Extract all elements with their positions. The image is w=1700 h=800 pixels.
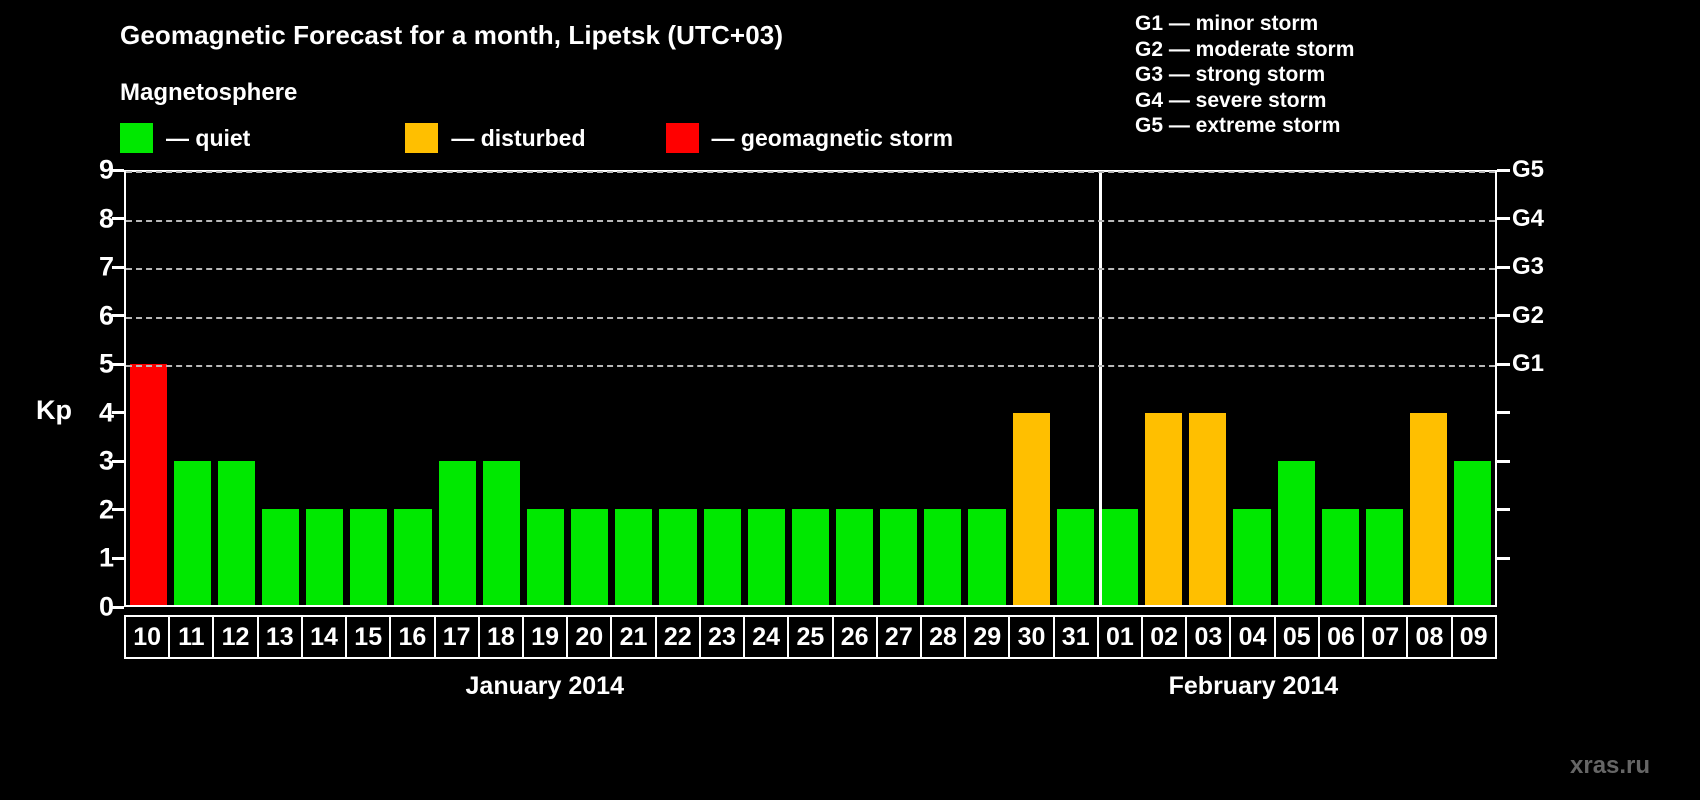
bar-cell-28 xyxy=(921,172,965,605)
storm-scale-list: G1 — minor stormG2 — moderate stormG3 — … xyxy=(1135,11,1354,139)
g-axis-label-G1: G1 xyxy=(1512,350,1544,378)
bar-day-04 xyxy=(1233,509,1270,605)
y-tick-label-8: 8 xyxy=(74,203,114,234)
bar-day-01 xyxy=(1101,509,1138,605)
day-label-31[interactable]: 31 xyxy=(1053,615,1099,659)
g-minor-tick-kp-3 xyxy=(1497,460,1510,463)
bar-cell-16 xyxy=(391,172,435,605)
day-label-21[interactable]: 21 xyxy=(610,615,656,659)
bar-cell-25 xyxy=(788,172,832,605)
storm-scale-row-g5: G5 — extreme storm xyxy=(1135,113,1354,139)
gridline-kp-9 xyxy=(126,171,1495,173)
day-label-11[interactable]: 11 xyxy=(168,615,214,659)
g-minor-tick-kp-4 xyxy=(1497,411,1510,414)
bar-cell-27 xyxy=(877,172,921,605)
bar-day-15 xyxy=(350,509,387,605)
legend-swatch-disturbed xyxy=(405,123,438,153)
bar-cell-30 xyxy=(1009,172,1053,605)
page-title: Geomagnetic Forecast for a month, Lipets… xyxy=(120,20,783,51)
day-axis: 1011121314151617181920212223242526272829… xyxy=(124,615,1497,659)
y-axis-label: Kp xyxy=(36,395,72,426)
day-label-25[interactable]: 25 xyxy=(787,615,833,659)
day-label-20[interactable]: 20 xyxy=(566,615,612,659)
g-minor-tick-kp-1 xyxy=(1497,557,1510,560)
bar-cell-29 xyxy=(965,172,1009,605)
day-label-16[interactable]: 16 xyxy=(389,615,435,659)
g-axis-label-G5: G5 xyxy=(1512,156,1544,184)
day-label-10[interactable]: 10 xyxy=(124,615,170,659)
y-tick-label-0: 0 xyxy=(74,592,114,623)
bar-cell-07 xyxy=(1362,172,1406,605)
day-label-05[interactable]: 05 xyxy=(1274,615,1320,659)
g-tick-G3 xyxy=(1497,266,1510,269)
day-label-28[interactable]: 28 xyxy=(920,615,966,659)
y-tick-label-9: 9 xyxy=(74,155,114,186)
bar-cell-19 xyxy=(523,172,567,605)
month-label: February 2014 xyxy=(1169,672,1339,701)
bar-day-13 xyxy=(262,509,299,605)
g-axis-label-G4: G4 xyxy=(1512,205,1544,233)
bar-day-16 xyxy=(394,509,431,605)
day-label-13[interactable]: 13 xyxy=(257,615,303,659)
day-label-30[interactable]: 30 xyxy=(1008,615,1054,659)
day-label-14[interactable]: 14 xyxy=(301,615,347,659)
g-axis-label-G3: G3 xyxy=(1512,253,1544,281)
bar-cell-03 xyxy=(1186,172,1230,605)
bar-day-11 xyxy=(174,461,211,605)
legend-swatch-geomagnetic-storm xyxy=(666,123,699,153)
bar-cell-06 xyxy=(1318,172,1362,605)
bar-day-25 xyxy=(792,509,829,605)
bar-day-05 xyxy=(1278,461,1315,605)
y-tick-label-3: 3 xyxy=(74,446,114,477)
bar-day-30 xyxy=(1013,413,1050,605)
bar-cell-26 xyxy=(833,172,877,605)
bar-day-02 xyxy=(1145,413,1182,605)
legend-swatch-quiet xyxy=(120,123,153,153)
month-divider xyxy=(1099,172,1102,605)
day-label-09[interactable]: 09 xyxy=(1451,615,1497,659)
bar-day-09 xyxy=(1454,461,1491,605)
bar-cell-21 xyxy=(612,172,656,605)
bar-cell-24 xyxy=(744,172,788,605)
bar-series xyxy=(126,172,1495,605)
gridline-kp-5 xyxy=(126,365,1495,367)
gridline-kp-7 xyxy=(126,268,1495,270)
day-label-15[interactable]: 15 xyxy=(345,615,391,659)
g-tick-G4 xyxy=(1497,217,1510,220)
bar-day-23 xyxy=(704,509,741,605)
legend-item-quiet: — quiet xyxy=(120,123,250,153)
day-label-24[interactable]: 24 xyxy=(743,615,789,659)
month-axis: January 2014February 2014 xyxy=(124,672,1497,712)
bar-cell-13 xyxy=(258,172,302,605)
legend-label-quiet: — quiet xyxy=(166,125,250,152)
y-tick-label-5: 5 xyxy=(74,349,114,380)
day-label-19[interactable]: 19 xyxy=(522,615,568,659)
bar-cell-31 xyxy=(1053,172,1097,605)
legend-label-disturbed: — disturbed xyxy=(451,125,585,152)
day-label-03[interactable]: 03 xyxy=(1185,615,1231,659)
bar-cell-23 xyxy=(700,172,744,605)
bar-cell-04 xyxy=(1230,172,1274,605)
bar-day-19 xyxy=(527,509,564,605)
bar-day-24 xyxy=(748,509,785,605)
g-tick-G1 xyxy=(1497,363,1510,366)
bar-day-22 xyxy=(659,509,696,605)
storm-scale-row-g3: G3 — strong storm xyxy=(1135,62,1354,88)
gridline-kp-8 xyxy=(126,220,1495,222)
g-tick-G5 xyxy=(1497,169,1510,172)
bar-day-26 xyxy=(836,509,873,605)
day-label-08[interactable]: 08 xyxy=(1406,615,1452,659)
bar-day-21 xyxy=(615,509,652,605)
bar-cell-18 xyxy=(479,172,523,605)
bar-day-06 xyxy=(1322,509,1359,605)
bar-cell-02 xyxy=(1142,172,1186,605)
day-label-29[interactable]: 29 xyxy=(964,615,1010,659)
bar-cell-05 xyxy=(1274,172,1318,605)
day-label-04[interactable]: 04 xyxy=(1229,615,1275,659)
section-label: Magnetosphere xyxy=(120,79,297,107)
bar-cell-01 xyxy=(1097,172,1141,605)
bar-cell-08 xyxy=(1407,172,1451,605)
legend: — quiet— disturbed— geomagnetic storm xyxy=(120,122,953,154)
bar-cell-20 xyxy=(568,172,612,605)
bar-cell-11 xyxy=(170,172,214,605)
y-tick-label-6: 6 xyxy=(74,300,114,331)
g-minor-tick-kp-2 xyxy=(1497,508,1510,511)
gridline-kp-6 xyxy=(126,317,1495,319)
bar-cell-09 xyxy=(1451,172,1495,605)
y-tick-label-7: 7 xyxy=(74,252,114,283)
day-label-18[interactable]: 18 xyxy=(478,615,524,659)
g-axis-label-G2: G2 xyxy=(1512,302,1544,330)
month-label: January 2014 xyxy=(466,672,624,701)
storm-scale-row-g4: G4 — severe storm xyxy=(1135,88,1354,114)
bar-day-07 xyxy=(1366,509,1403,605)
y-tick-label-2: 2 xyxy=(74,494,114,525)
bar-cell-17 xyxy=(435,172,479,605)
bar-day-29 xyxy=(968,509,1005,605)
bar-cell-12 xyxy=(214,172,258,605)
day-label-06[interactable]: 06 xyxy=(1318,615,1364,659)
storm-scale-row-g2: G2 — moderate storm xyxy=(1135,37,1354,63)
day-label-27[interactable]: 27 xyxy=(876,615,922,659)
bar-day-27 xyxy=(880,509,917,605)
bar-day-18 xyxy=(483,461,520,605)
watermark: xras.ru xyxy=(1570,752,1650,780)
bar-day-10 xyxy=(130,364,167,605)
day-label-23[interactable]: 23 xyxy=(699,615,745,659)
g-tick-G2 xyxy=(1497,314,1510,317)
y-tick-label-4: 4 xyxy=(74,397,114,428)
bar-day-28 xyxy=(924,509,961,605)
legend-item-disturbed: — disturbed xyxy=(405,123,585,153)
storm-scale-row-g1: G1 — minor storm xyxy=(1135,11,1354,37)
bar-day-12 xyxy=(218,461,255,605)
chart-plot-area xyxy=(124,170,1497,607)
bar-cell-15 xyxy=(347,172,391,605)
day-label-02[interactable]: 02 xyxy=(1141,615,1187,659)
bar-cell-10 xyxy=(126,172,170,605)
bar-day-08 xyxy=(1410,413,1447,605)
day-label-17[interactable]: 17 xyxy=(434,615,480,659)
day-label-01[interactable]: 01 xyxy=(1097,615,1143,659)
bar-cell-14 xyxy=(303,172,347,605)
y-tick-label-1: 1 xyxy=(74,543,114,574)
day-label-26[interactable]: 26 xyxy=(832,615,878,659)
legend-label-geomagnetic-storm: — geomagnetic storm xyxy=(712,125,954,152)
bar-day-31 xyxy=(1057,509,1094,605)
day-label-12[interactable]: 12 xyxy=(212,615,258,659)
bar-cell-22 xyxy=(656,172,700,605)
bar-day-20 xyxy=(571,509,608,605)
day-label-22[interactable]: 22 xyxy=(655,615,701,659)
bar-day-17 xyxy=(439,461,476,605)
legend-item-geomagnetic-storm: — geomagnetic storm xyxy=(666,123,954,153)
bar-day-14 xyxy=(306,509,343,605)
day-label-07[interactable]: 07 xyxy=(1362,615,1408,659)
bar-day-03 xyxy=(1189,413,1226,605)
